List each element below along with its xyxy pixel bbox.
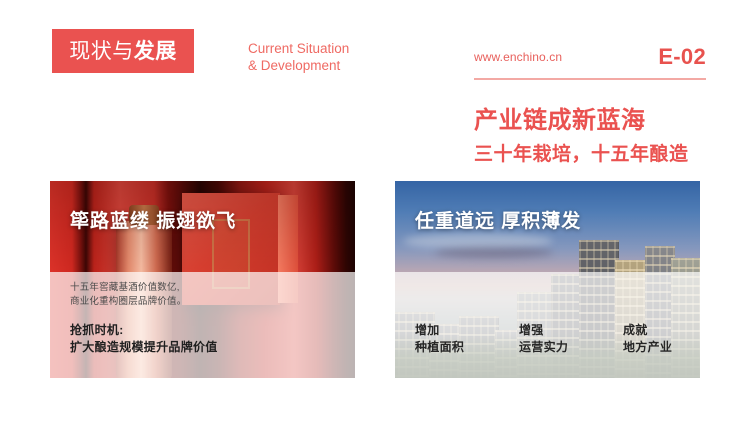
page-number: E-02 — [658, 44, 706, 70]
pillar-top: 增强 — [519, 322, 623, 339]
pillars-group: 增加 种植面积 增强 运营实力 成就 地方产业 — [415, 322, 687, 356]
section-banner-label-bold: 发展 — [134, 40, 177, 63]
section-subtitle-line1: Current Situation — [248, 40, 349, 57]
card-liquor-note: 十五年窖藏基酒价值数亿, 商业化重构圈层品牌价值。 — [70, 281, 186, 309]
section-subtitle: Current Situation & Development — [248, 40, 349, 74]
pillar-item: 增加 种植面积 — [415, 322, 519, 356]
slide: 现状与发展 Current Situation & Development ww… — [0, 0, 755, 425]
card-liquor-note-line1: 十五年窖藏基酒价值数亿, — [70, 281, 186, 295]
card-city[interactable]: 任重道远 厚积薄发 增加 种植面积 增强 运营实力 成就 地方产业 — [395, 181, 700, 378]
header-right: www.enchino.cn E-02 — [474, 44, 706, 78]
pillar-item: 增强 运营实力 — [519, 322, 623, 356]
pillar-bottom: 种植面积 — [415, 339, 519, 356]
headline-block: 产业链成新蓝海 三十年栽培，十五年酿造 — [474, 106, 734, 168]
site-url[interactable]: www.enchino.cn — [474, 50, 562, 64]
section-banner: 现状与发展 — [52, 29, 194, 73]
section-subtitle-line2: & Development — [248, 57, 349, 74]
card-city-title: 任重道远 厚积薄发 — [415, 212, 581, 231]
pillar-top: 成就 — [623, 322, 687, 339]
pillar-item: 成就 地方产业 — [623, 322, 687, 356]
pillar-bottom: 运营实力 — [519, 339, 623, 356]
pillar-top: 增加 — [415, 322, 519, 339]
section-banner-label-light: 现状与 — [69, 40, 134, 63]
header-divider — [474, 78, 706, 80]
headline-main: 产业链成新蓝海 — [474, 106, 734, 136]
headline-sub: 三十年栽培，十五年酿造 — [474, 142, 734, 168]
section-banner-label: 现状与发展 — [69, 41, 177, 62]
card-liquor[interactable]: 筚路蓝缕 振翅欲飞 十五年窖藏基酒价值数亿, 商业化重构圈层品牌价值。 抢抓时机… — [50, 181, 355, 378]
card-liquor-title: 筚路蓝缕 振翅欲飞 — [70, 212, 236, 231]
card-liquor-cta: 抢抓时机: 扩大酿造规模提升品牌价值 — [70, 322, 218, 356]
pillar-bottom: 地方产业 — [623, 339, 687, 356]
card-liquor-cta-line1: 抢抓时机: — [70, 322, 218, 339]
card-liquor-note-line2: 商业化重构圈层品牌价值。 — [70, 295, 186, 309]
card-liquor-cta-line2: 扩大酿造规模提升品牌价值 — [70, 339, 218, 356]
